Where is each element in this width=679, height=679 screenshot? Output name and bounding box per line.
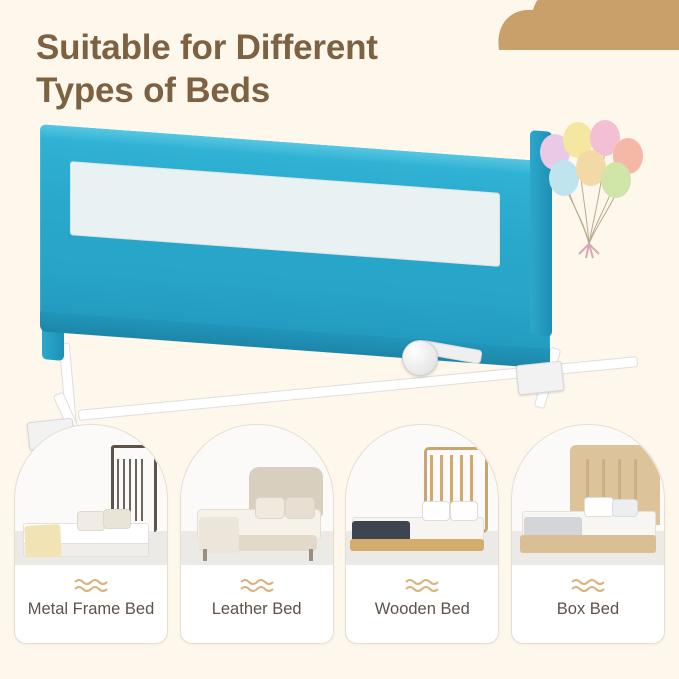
mounting-bracket-right (516, 361, 565, 396)
page-title: Suitable for Different Types of Beds (36, 26, 536, 112)
leather-bed-photo (181, 425, 333, 565)
bed-type-label: Leather Bed (187, 599, 327, 619)
bed-type-card-metal-frame[interactable]: Metal Frame Bed (14, 424, 168, 644)
metal-frame-bed-photo (15, 425, 167, 565)
bed-type-card-wooden[interactable]: Wooden Bed (345, 424, 499, 644)
wooden-bed-photo (346, 425, 498, 565)
bed-rail-illustration (22, 125, 582, 410)
wave-icon (405, 577, 439, 593)
wave-icon (74, 577, 108, 593)
bed-type-label: Box Bed (518, 599, 658, 619)
bed-type-card-list: Metal Frame Bed Leather Bed (14, 424, 665, 646)
hero-product-image (0, 110, 679, 410)
headline-line-1: Suitable for Different (36, 26, 536, 69)
headline-line-2: Types of Beds (36, 69, 536, 112)
wave-icon (240, 577, 274, 593)
wave-icon (571, 577, 605, 593)
bed-type-label: Wooden Bed (352, 599, 492, 619)
bed-type-card-leather[interactable]: Leather Bed (180, 424, 334, 644)
balloon-bunch-icon (531, 116, 651, 286)
bed-type-label: Metal Frame Bed (21, 599, 161, 619)
bed-type-card-box[interactable]: Box Bed (511, 424, 665, 644)
box-bed-photo (512, 425, 664, 565)
